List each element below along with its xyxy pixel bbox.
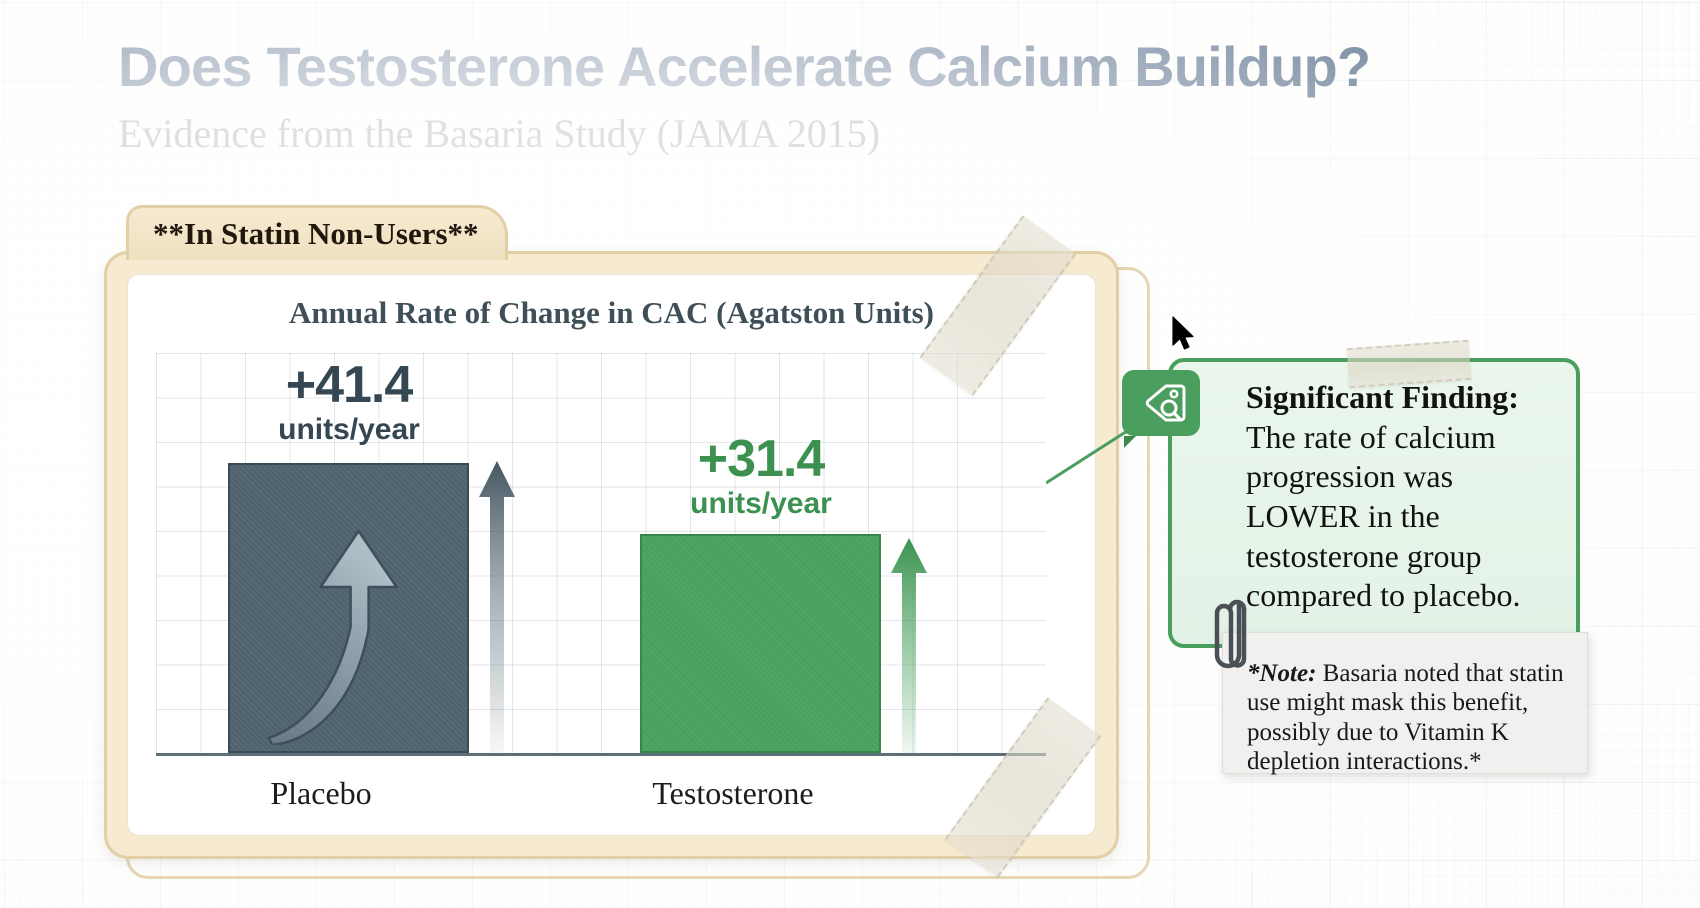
- value-label-testosterone: +31.4 units/year: [626, 433, 896, 523]
- value-label-placebo: +41.4 units/year: [214, 359, 484, 449]
- chart-plot-area: +41.4 units/year +31.4 units/year: [156, 353, 1046, 756]
- chart-paper: Annual Rate of Change in CAC (Agatston U…: [127, 274, 1096, 836]
- category-label-placebo: Placebo: [156, 775, 486, 812]
- folder-body: Annual Rate of Change in CAC (Agatston U…: [104, 251, 1119, 859]
- folder-tab-label: **In Statin Non-Users**: [153, 216, 479, 252]
- paperclip-icon: [1205, 593, 1259, 685]
- folder-tab[interactable]: **In Statin Non-Users**: [126, 205, 508, 260]
- tag-search-icon: [1122, 370, 1200, 436]
- category-label-testosterone: Testosterone: [568, 775, 898, 812]
- callout-body: The rate of calcium progression was LOWE…: [1246, 419, 1521, 614]
- callout-heading: Significant Finding:: [1246, 379, 1519, 415]
- header: Does Testosterone Accelerate Calcium Bui…: [118, 38, 1618, 157]
- footnote-text: *Note: Basaria noted that statin use mig…: [1223, 633, 1587, 776]
- bar-placebo[interactable]: [228, 463, 469, 753]
- slide-canvas: Does Testosterone Accelerate Calcium Bui…: [0, 0, 1700, 908]
- mouse-cursor: [1171, 315, 1197, 355]
- placebo-trend-arrow-icon: [476, 453, 518, 753]
- curved-rising-arrow-icon: [262, 495, 442, 745]
- footnote-card[interactable]: *Note: Basaria noted that statin use mig…: [1222, 632, 1588, 774]
- value-number-placebo: +41.4: [214, 359, 484, 411]
- value-unit-testosterone: units/year: [626, 485, 896, 523]
- testosterone-trend-arrow-icon: [888, 531, 930, 753]
- value-unit-placebo: units/year: [214, 411, 484, 449]
- folder-card: **In Statin Non-Users** Annual Rate of C…: [104, 205, 1144, 880]
- chart-title: Annual Rate of Change in CAC (Agatston U…: [128, 295, 1095, 331]
- value-number-testosterone: +31.4: [626, 433, 896, 485]
- page-title: Does Testosterone Accelerate Calcium Bui…: [118, 38, 1618, 97]
- bar-testosterone[interactable]: [640, 534, 881, 753]
- page-subtitle: Evidence from the Basaria Study (JAMA 20…: [118, 111, 1618, 157]
